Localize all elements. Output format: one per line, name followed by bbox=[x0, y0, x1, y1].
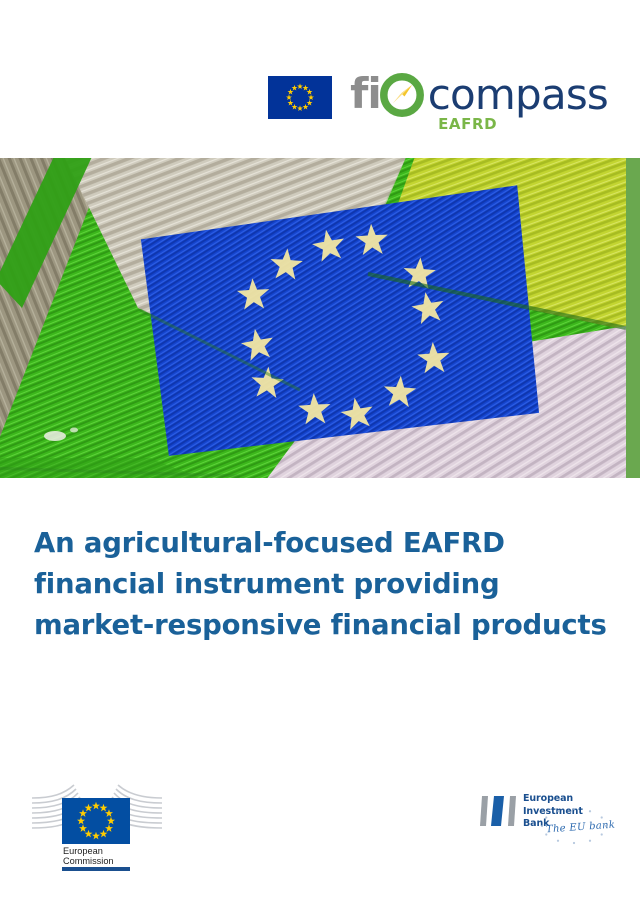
fi-compass-brand-lockup: fi bbox=[268, 72, 608, 133]
cover-footer: European Commission European Investment … bbox=[0, 774, 640, 904]
eib-tagline-star-circle-icon bbox=[538, 806, 610, 846]
cover-title-line: market-responsive financial products bbox=[34, 609, 607, 641]
fi-compass-row: fi bbox=[350, 72, 608, 118]
cover-title-line: An agricultural-focused EAFRD bbox=[34, 527, 505, 559]
fi-text: fi bbox=[350, 73, 381, 115]
eib-label-line1: European bbox=[523, 793, 583, 806]
cover-title-line: financial instrument providing bbox=[34, 568, 500, 600]
european-investment-bank-logo: European Investment Bank The EU bank bbox=[478, 792, 618, 852]
hero-accent-bar bbox=[626, 158, 640, 478]
eib-bars-icon bbox=[478, 792, 522, 832]
eu-flag-icon bbox=[268, 76, 332, 119]
cover-header: fi bbox=[0, 0, 640, 158]
eu-flag-stars bbox=[268, 76, 332, 119]
ec-label-line1: European bbox=[63, 846, 103, 856]
european-commission-logo: European Commission bbox=[30, 780, 182, 872]
cover-title: An agricultural-focused EAFRDfinancial i… bbox=[34, 523, 609, 646]
compass-needle-icon bbox=[379, 72, 425, 118]
aerial-farm-fields-illustration bbox=[0, 158, 640, 478]
fi-compass-wordmark: fi bbox=[350, 72, 608, 133]
compass-text: compass bbox=[428, 74, 608, 116]
cover-hero-image bbox=[0, 158, 640, 478]
ec-label-line2: Commission bbox=[63, 856, 114, 866]
